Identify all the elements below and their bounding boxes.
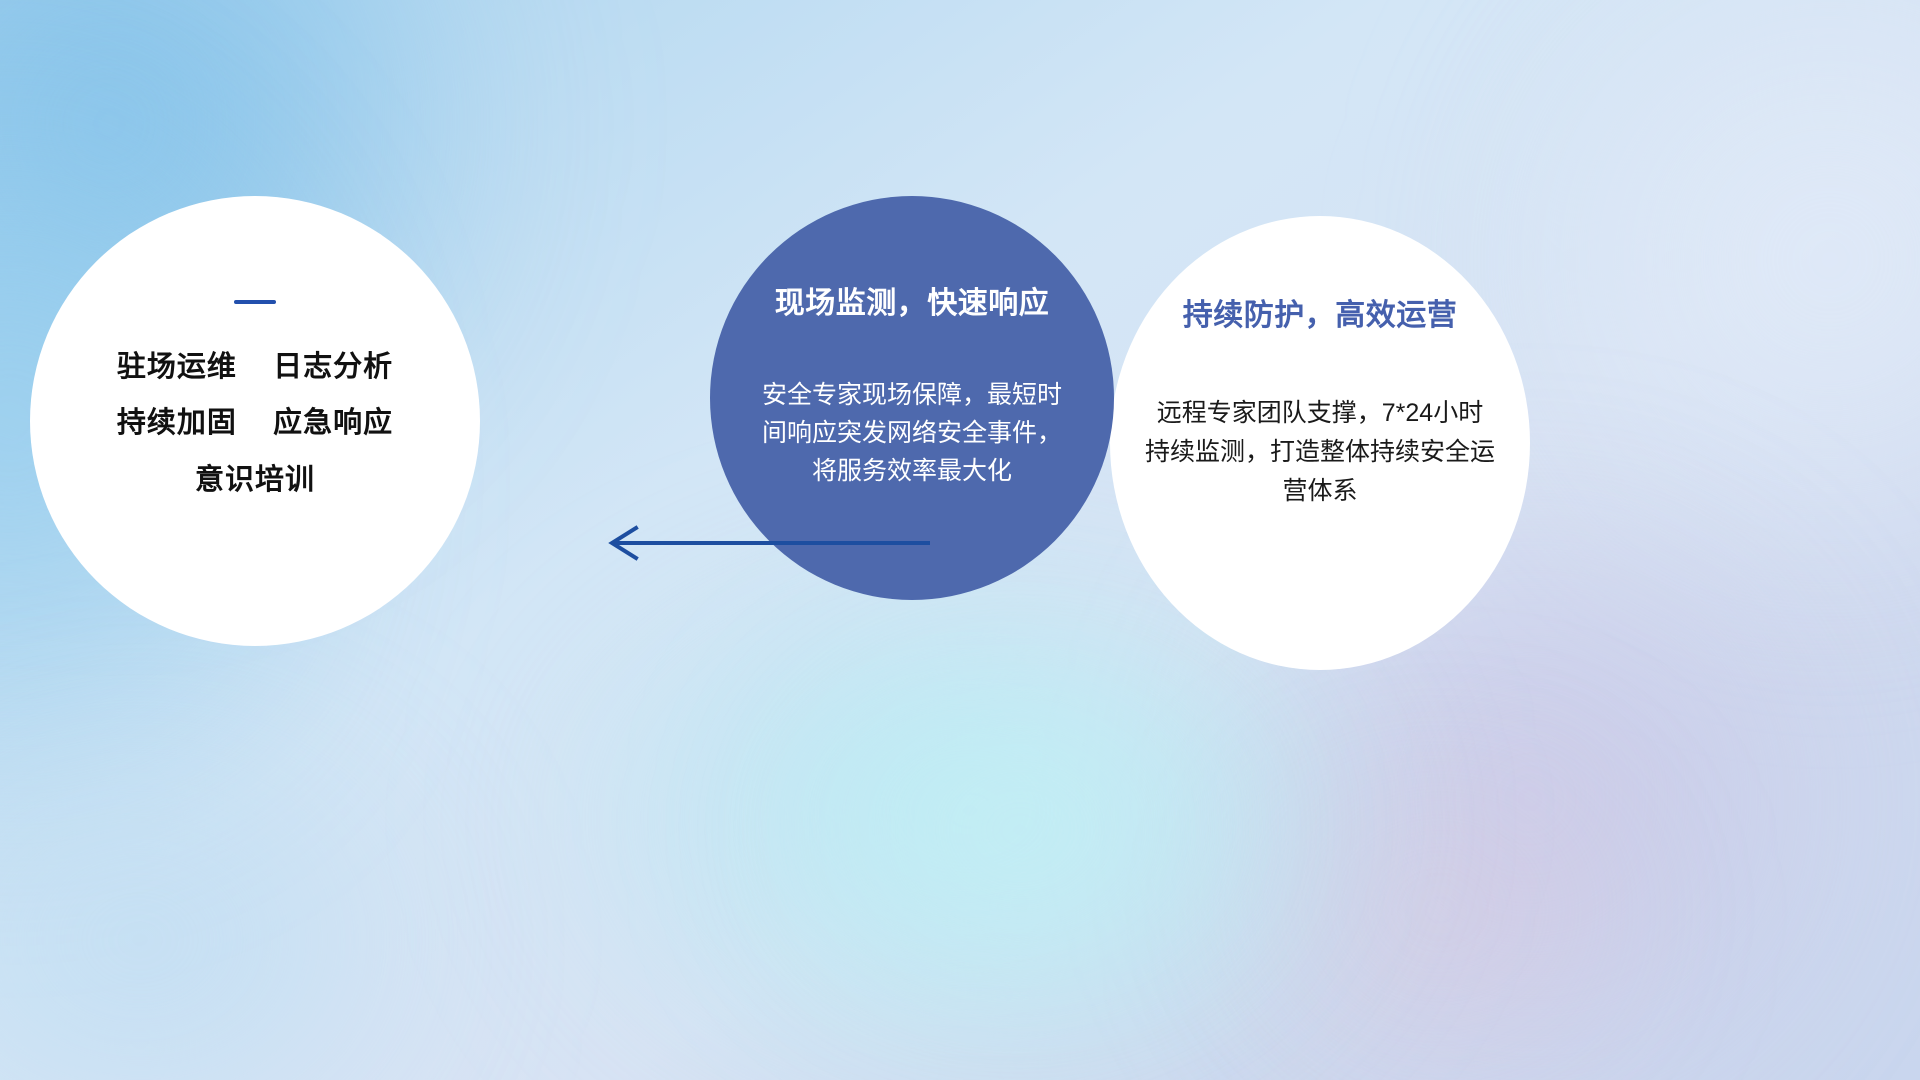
- slide-canvas: 驻场运维 日志分析 持续加固 应急响应 意识培训 持续防护，高效运营 远程专家团…: [0, 0, 1920, 1080]
- right-circle: 持续防护，高效运营 远程专家团队支撑，7*24小时持续监测，打造整体持续安全运营…: [1110, 216, 1530, 670]
- left-circle: 驻场运维 日志分析 持续加固 应急响应 意识培训: [30, 196, 480, 646]
- arrow-to-left-circle: [600, 518, 930, 568]
- right-circle-body: 远程专家团队支撑，7*24小时持续监测，打造整体持续安全运营体系: [1145, 394, 1495, 510]
- middle-circle-body: 安全专家现场保障，最短时间响应突发网络安全事件，将服务效率最大化: [762, 376, 1062, 490]
- left-circle-line-2: 持续加固 应急响应: [117, 408, 393, 438]
- left-circle-line-1: 驻场运维 日志分析: [117, 352, 393, 382]
- right-circle-title: 持续防护，高效运营: [1183, 290, 1458, 334]
- middle-circle-title: 现场监测，快速响应: [775, 278, 1050, 322]
- background-blob-cyan-inner: [760, 680, 1280, 1010]
- left-arrow-icon: [600, 518, 930, 568]
- dash-accent-icon: [234, 300, 276, 304]
- left-circle-line-3: 意识培训: [195, 465, 315, 495]
